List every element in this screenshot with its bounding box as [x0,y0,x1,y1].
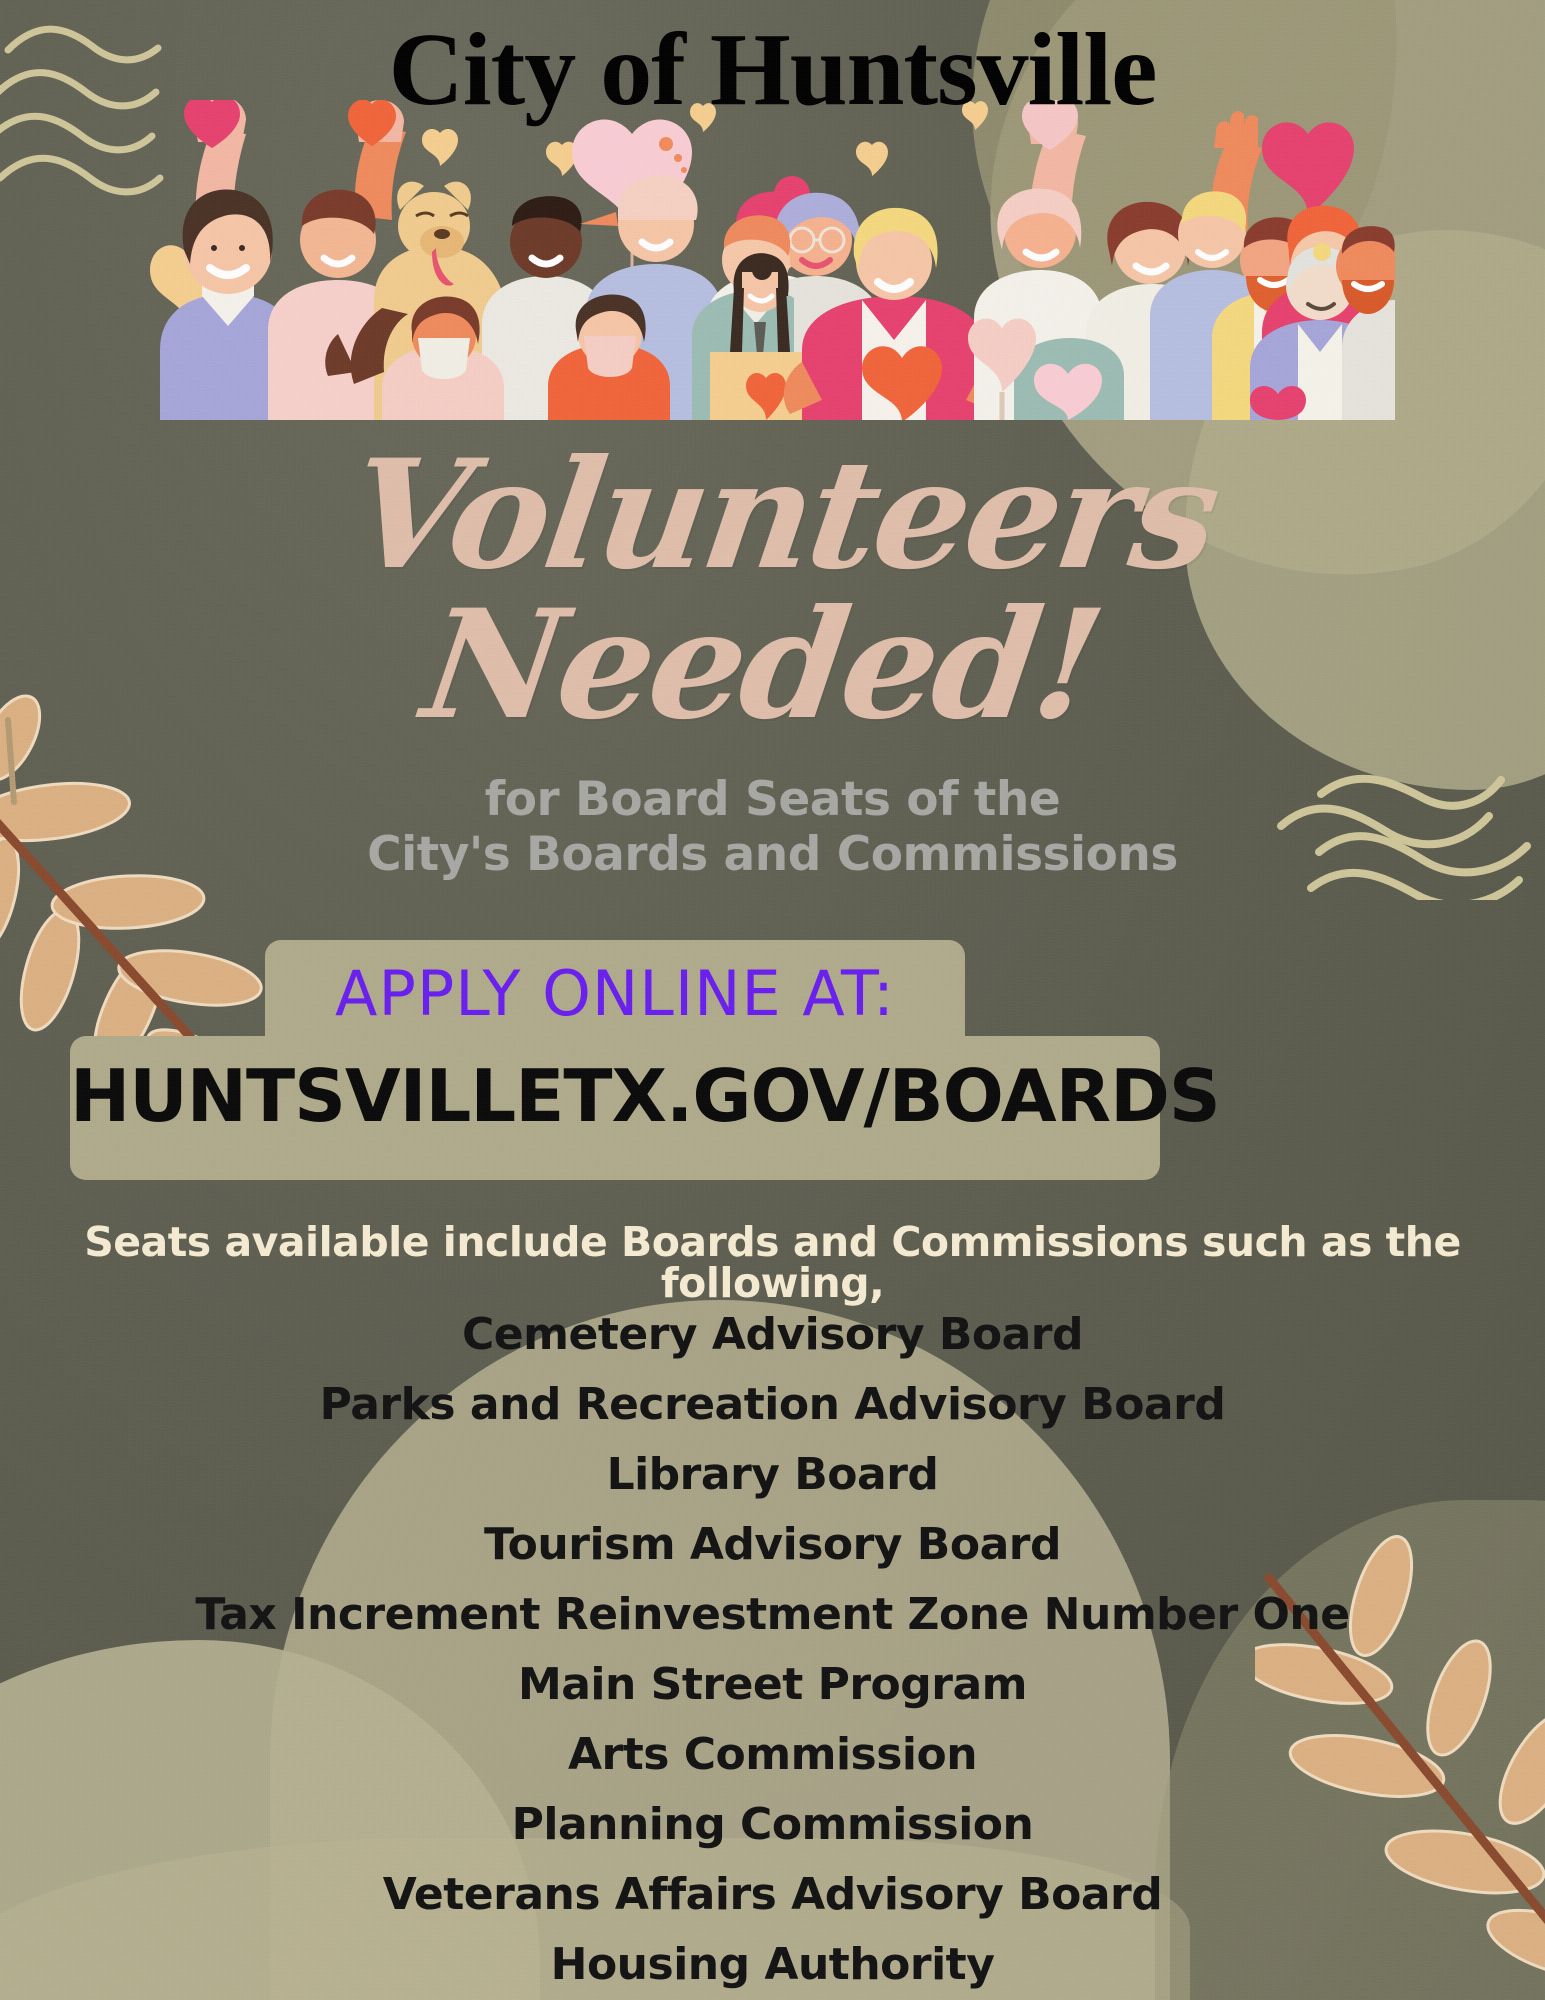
board-list-item: Housing Authority [0,1930,1545,2000]
subtitle-line-2: City's Boards and Commissions [0,827,1545,882]
subtitle-block: for Board Seats of the City's Boards and… [0,772,1545,883]
boards-and-commissions-list: Cemetery Advisory BoardParks and Recreat… [0,1300,1545,2000]
board-list-item: Arts Commission [0,1720,1545,1790]
page-title: City of Huntsville [0,18,1545,122]
seats-intro-text: Seats available include Boards and Commi… [0,1222,1545,1304]
board-list-item: Tourism Advisory Board [0,1510,1545,1580]
script-headline: Volunteers Needed! [0,440,1545,740]
volunteer-recruitment-poster: City of Huntsville Volunteers Needed! fo… [0,0,1545,2000]
board-list-item: Veterans Affairs Advisory Board [0,1860,1545,1930]
subtitle-line-1: for Board Seats of the [0,772,1545,827]
apply-url-link[interactable]: HUNTSVILLETX.GOV/BOARDS [70,1060,1160,1132]
diverse-crowd-with-hearts-illustration [150,100,1395,420]
board-list-item: Library Board [0,1440,1545,1510]
board-list-item: Planning Commission [0,1790,1545,1860]
board-list-item: Parks and Recreation Advisory Board [0,1370,1545,1440]
board-list-item: Cemetery Advisory Board [0,1300,1545,1370]
board-list-item: Tax Increment Reinvestment Zone Number O… [0,1580,1545,1650]
board-list-item: Main Street Program [0,1650,1545,1720]
apply-online-label: APPLY ONLINE AT: [265,963,965,1025]
